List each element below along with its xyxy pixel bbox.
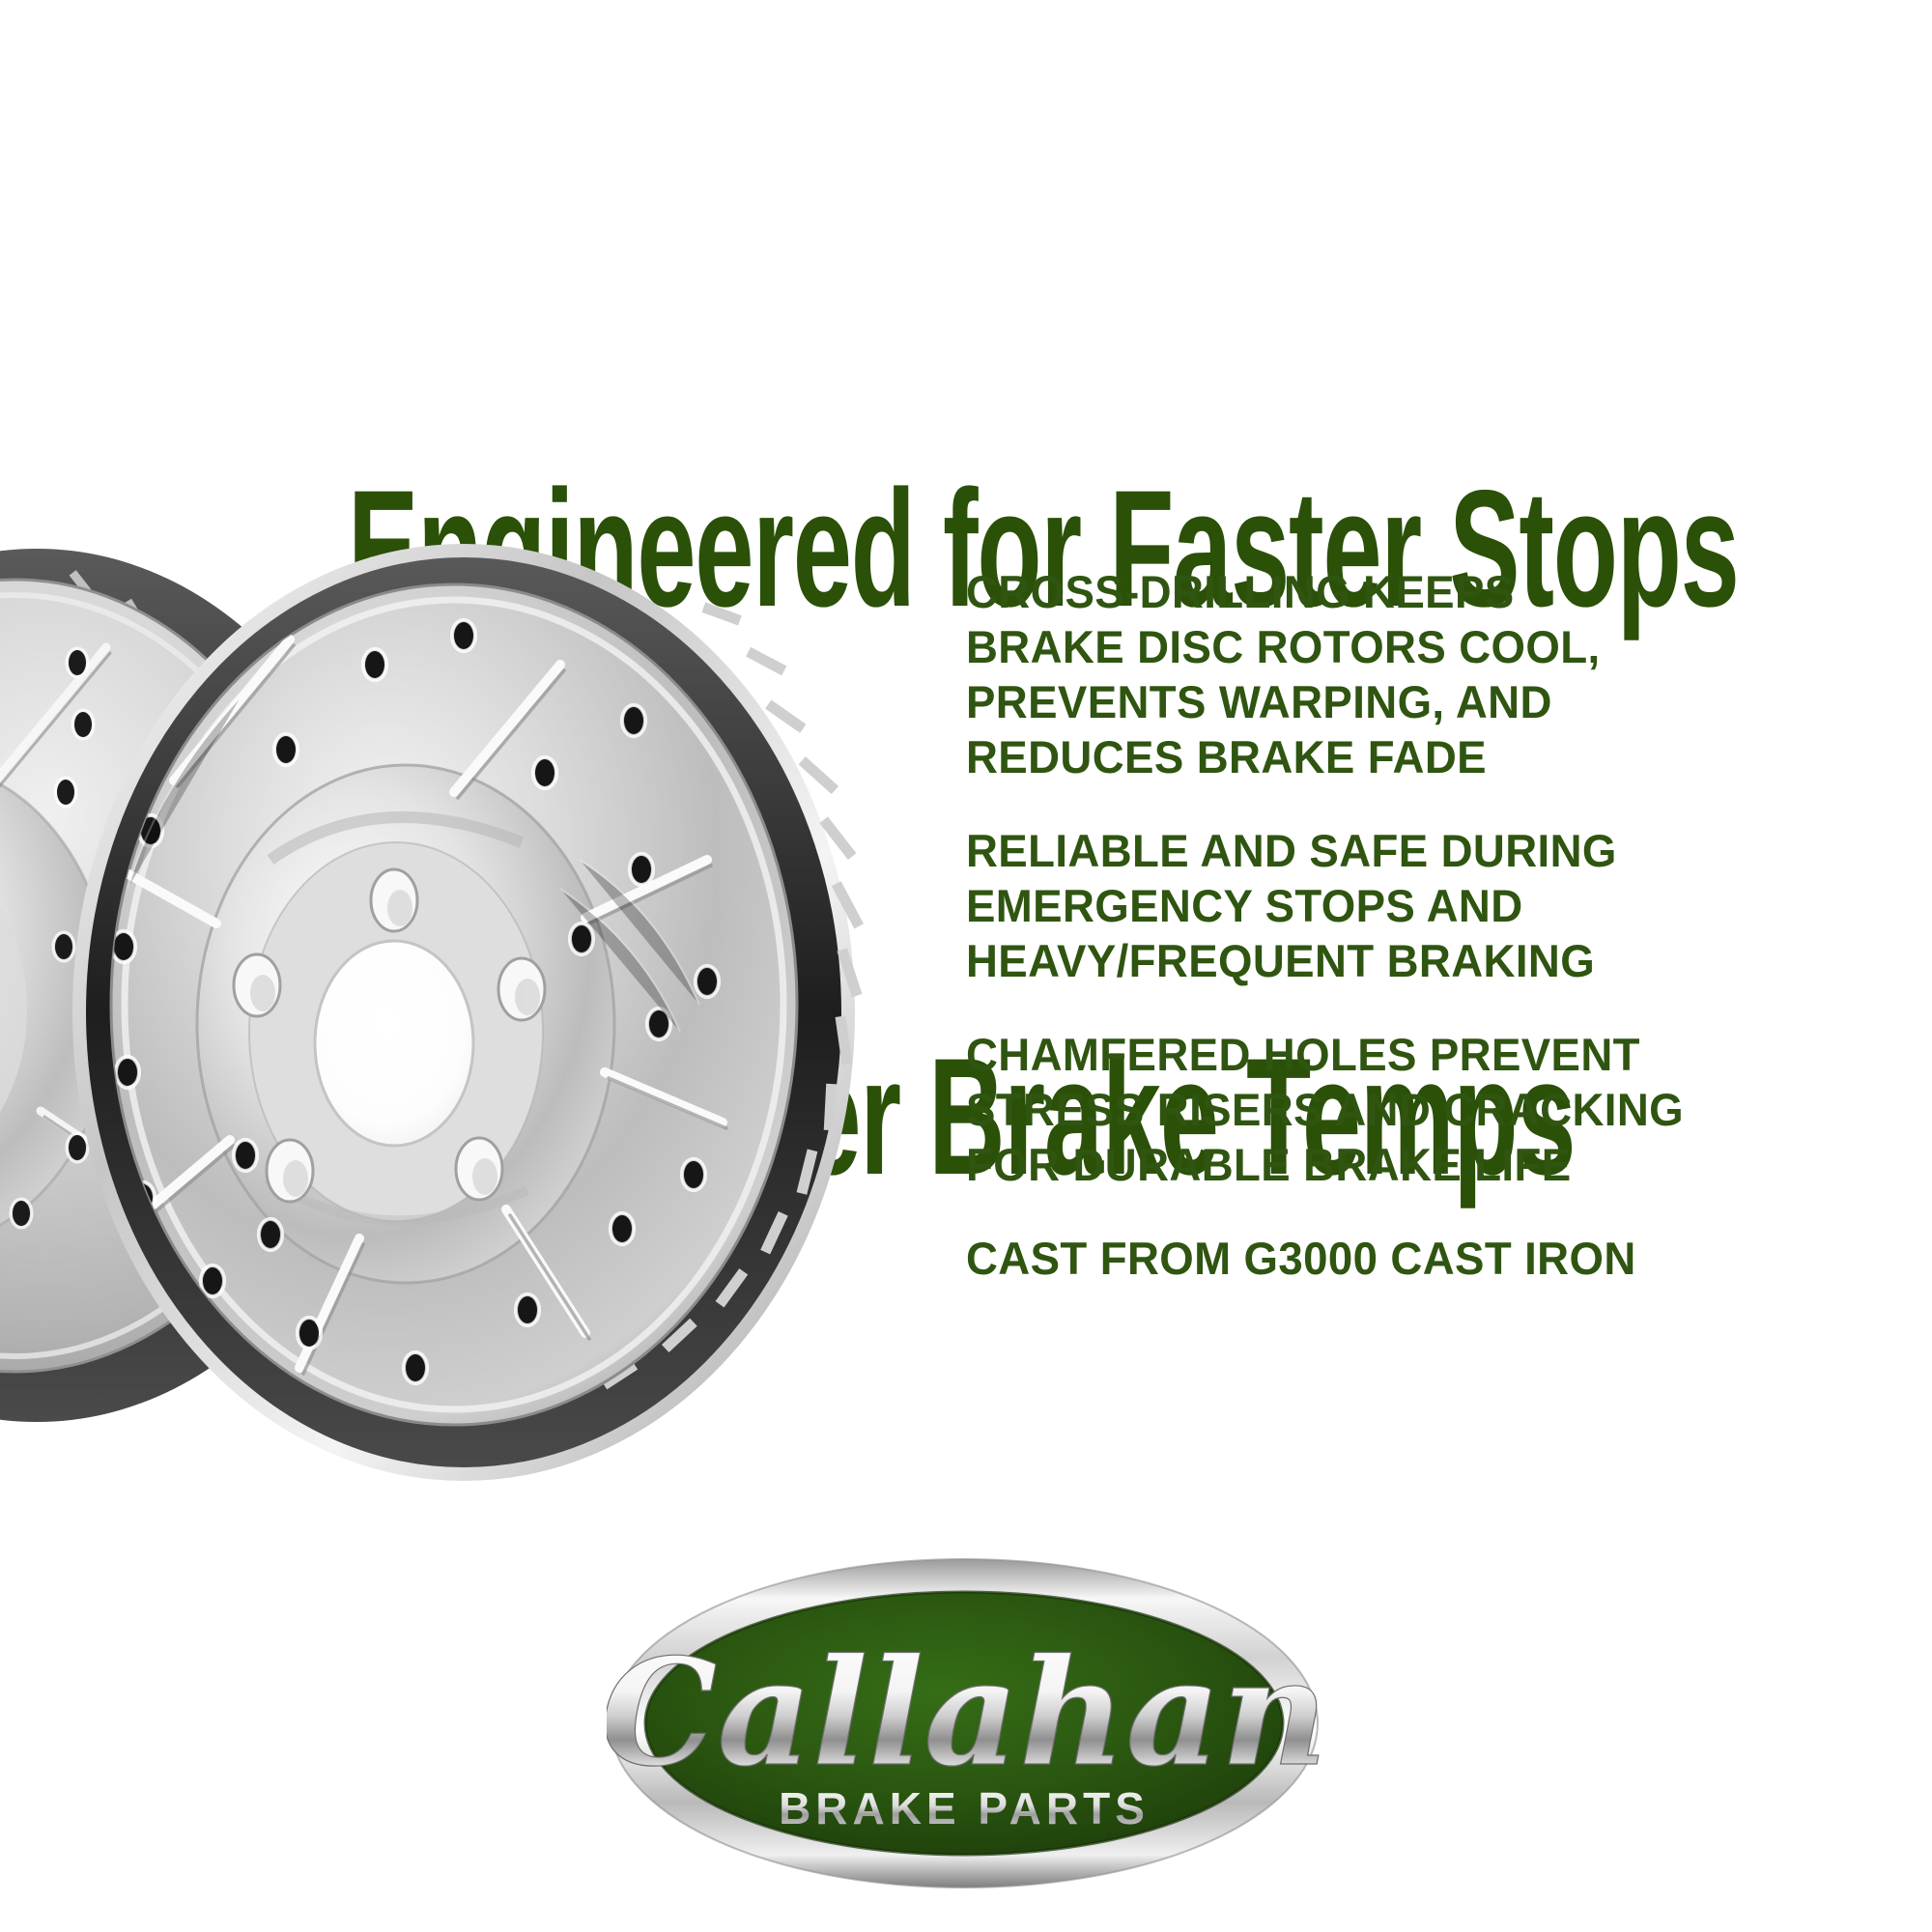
feature-block-chamfered-holes: CHAMFERED HOLES PREVENT STRESS RISERS AN… — [966, 1027, 1874, 1192]
feature-line: REDUCES BRAKE FADE — [966, 729, 1847, 784]
feature-line: BRAKE DISC ROTORS COOL, — [966, 619, 1847, 674]
feature-list: CROSS-DRILLING KEEPS BRAKE DISC ROTORS C… — [966, 564, 1874, 1286]
callahan-brake-parts-logo: Callahan BRAKE PARTS — [607, 1553, 1321, 1893]
feature-line: PREVENTS WARPING, AND — [966, 674, 1847, 729]
feature-line: CAST FROM G3000 CAST IRON — [966, 1231, 1847, 1286]
feature-block-cross-drilling: CROSS-DRILLING KEEPS BRAKE DISC ROTORS C… — [966, 564, 1874, 784]
feature-line: EMERGENCY STOPS AND — [966, 878, 1847, 933]
feature-block-reliability: RELIABLE AND SAFE DURING EMERGENCY STOPS… — [966, 823, 1874, 988]
front-rotor — [79, 551, 864, 1474]
feature-block-material: CAST FROM G3000 CAST IRON — [966, 1231, 1874, 1286]
brake-rotor-product-image — [0, 406, 927, 1565]
feature-line: HEAVY/FREQUENT BRAKING — [966, 933, 1847, 988]
feature-line: STRESS RISERS AND CRACKING — [966, 1082, 1847, 1137]
product-banner: Engineered for Faster Stops and Cooler B… — [0, 0, 1932, 1932]
feature-line: RELIABLE AND SAFE DURING — [966, 823, 1847, 878]
logo-tagline-text: BRAKE PARTS — [779, 1783, 1150, 1833]
logo-brand-text: Callahan — [607, 1626, 1321, 1799]
feature-line: CHAMFERED HOLES PREVENT — [966, 1027, 1847, 1082]
feature-line: CROSS-DRILLING KEEPS — [966, 564, 1847, 619]
feature-line: FOR DURABLE BRAKE LIFE — [966, 1137, 1847, 1192]
